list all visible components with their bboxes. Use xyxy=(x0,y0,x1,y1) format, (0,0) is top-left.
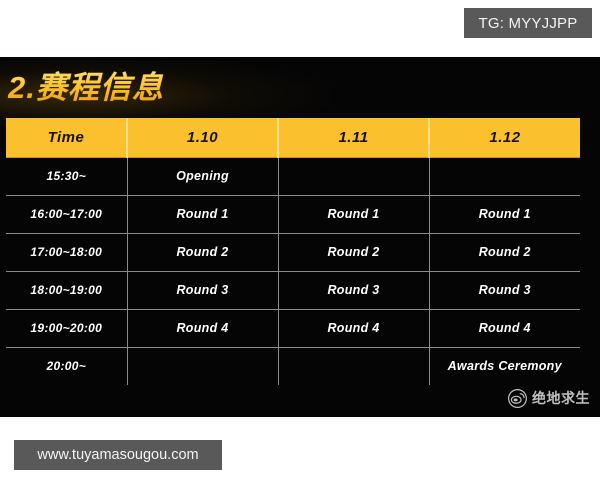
cell-day-1-10: Round 4 xyxy=(127,309,278,347)
cell-day-1-12: Round 3 xyxy=(429,271,580,309)
cell-time: 17:00~18:00 xyxy=(6,233,127,271)
slide-panel: 2.赛程信息 Time 1.10 1.11 1.12 15:30~ Openin… xyxy=(0,57,600,417)
cell-day-1-12: Round 1 xyxy=(429,195,580,233)
cell-day-1-11: Round 1 xyxy=(278,195,429,233)
cell-day-1-12: Round 4 xyxy=(429,309,580,347)
cell-day-1-10: Round 3 xyxy=(127,271,278,309)
watermark: 绝地求生 xyxy=(508,388,590,408)
table-row: 16:00~17:00 Round 1 Round 1 Round 1 xyxy=(6,195,580,233)
column-header-day-1-11: 1.11 xyxy=(278,118,429,157)
cell-day-1-11 xyxy=(278,347,429,385)
watermark-label: 绝地求生 xyxy=(532,388,590,408)
cell-day-1-11: Round 4 xyxy=(278,309,429,347)
source-url-bar: www.tuyamasougou.com xyxy=(14,440,222,470)
table-row: 17:00~18:00 Round 2 Round 2 Round 2 xyxy=(6,233,580,271)
cell-day-1-10 xyxy=(127,347,278,385)
page-title: 2.赛程信息 xyxy=(8,68,164,108)
cell-day-1-12: Awards Ceremony xyxy=(429,347,580,385)
tg-handle-badge: TG: MYYJJPP xyxy=(464,8,592,38)
column-header-day-1-10: 1.10 xyxy=(127,118,278,157)
screenshot-root: TG: MYYJJPP 2.赛程信息 Time 1.10 1.11 1.12 1… xyxy=(0,0,600,480)
cell-time: 15:30~ xyxy=(6,157,127,195)
column-header-time: Time xyxy=(6,118,127,157)
cell-day-1-11 xyxy=(278,157,429,195)
table-row: 20:00~ Awards Ceremony xyxy=(6,347,580,385)
table-row: 19:00~20:00 Round 4 Round 4 Round 4 xyxy=(6,309,580,347)
cell-day-1-11: Round 3 xyxy=(278,271,429,309)
cell-time: 20:00~ xyxy=(6,347,127,385)
table-row: 18:00~19:00 Round 3 Round 3 Round 3 xyxy=(6,271,580,309)
cell-day-1-10: Round 1 xyxy=(127,195,278,233)
column-header-day-1-12: 1.12 xyxy=(429,118,580,157)
table-header-row: Time 1.10 1.11 1.12 xyxy=(6,118,580,157)
cell-time: 18:00~19:00 xyxy=(6,271,127,309)
table-row: 15:30~ Opening xyxy=(6,157,580,195)
cell-day-1-11: Round 2 xyxy=(278,233,429,271)
cell-day-1-10: Round 2 xyxy=(127,233,278,271)
cell-day-1-12 xyxy=(429,157,580,195)
schedule-table: Time 1.10 1.11 1.12 15:30~ Opening 16:00… xyxy=(6,118,580,385)
weibo-logo-icon xyxy=(508,389,527,408)
cell-time: 19:00~20:00 xyxy=(6,309,127,347)
cell-time: 16:00~17:00 xyxy=(6,195,127,233)
cell-day-1-10: Opening xyxy=(127,157,278,195)
cell-day-1-12: Round 2 xyxy=(429,233,580,271)
